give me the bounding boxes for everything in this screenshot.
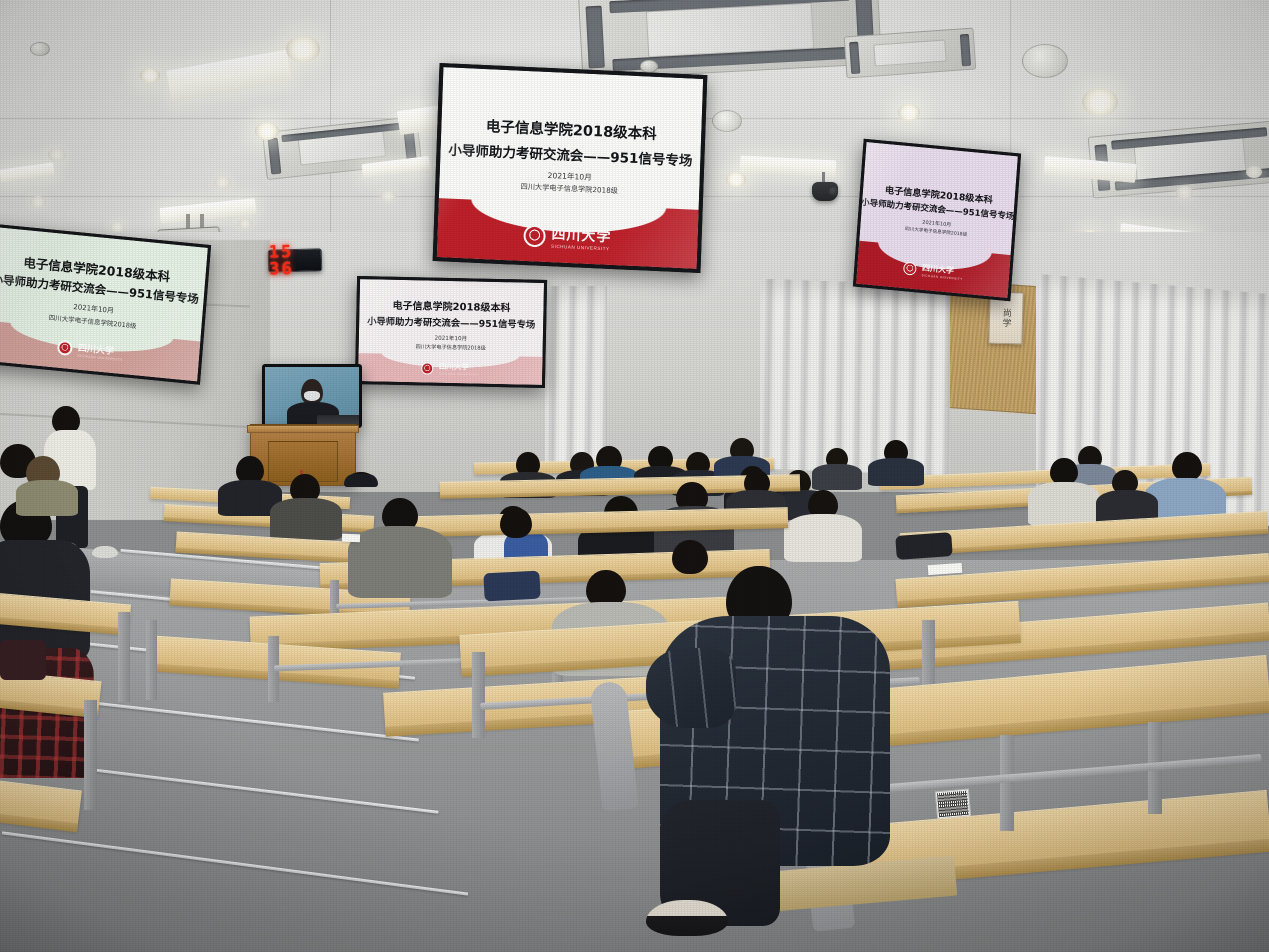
backpack (483, 571, 540, 602)
downlight-icon (726, 172, 746, 187)
student-body (270, 498, 342, 540)
clock-time: 15 36 (269, 243, 322, 278)
foreground-student-arm (646, 648, 736, 728)
right-lcd-display[interactable]: 电子信息学院2018级本科 小导师助力考研交流会——951信号专场 2021年1… (853, 139, 1021, 301)
ac-vent-icon (844, 28, 977, 79)
downlight-icon (30, 196, 46, 208)
student-body (784, 514, 862, 562)
shoe-icon (92, 546, 118, 558)
smoke-detector-icon (640, 60, 658, 73)
downlight-icon (255, 122, 279, 140)
main-lcd-display[interactable]: 电子信息学院2018级本科 小导师助力考研交流会——951信号专场 2021年1… (433, 63, 708, 273)
center-projection-screen[interactable]: 电子信息学院2018级本科 小导师助力考研交流会——951信号专场 2021年1… (355, 276, 547, 388)
downlight-icon (214, 176, 231, 189)
slide-left: 电子信息学院2018级本科 小导师助力考研交流会——951信号专场 2021年1… (0, 227, 208, 382)
seat-qr-code (935, 789, 971, 820)
slide-title-line2: 小导师助力考研交流会——951信号专场 (367, 313, 535, 331)
downlight-icon (48, 148, 66, 162)
student-head (1172, 452, 1202, 481)
slide-subtitle-org: 四川大学电子信息学院2018级 (415, 343, 485, 351)
slide-subtitle-org: 四川大学电子信息学院2018级 (905, 226, 967, 238)
student-body (812, 464, 862, 490)
lecture-hall-photo: 尚学 电子信息学院2018级本科 小导师助力考研交流会——951信号专场 202… (0, 0, 1269, 952)
panel-light-icon (166, 50, 292, 103)
student-head (672, 540, 708, 574)
podium-monitor[interactable] (262, 364, 362, 428)
logo-cn: 四川大学 (551, 224, 612, 247)
ceiling-speaker-icon (712, 110, 742, 132)
digital-clock: 15 36 (268, 248, 323, 272)
slide-title-line1: 电子信息学院2018级本科 (486, 115, 657, 144)
smoke-detector-icon (30, 42, 50, 56)
slide-main: 电子信息学院2018级本科 小导师助力考研交流会——951信号专场 2021年1… (437, 67, 703, 269)
student-body (348, 526, 452, 598)
student-head (1050, 458, 1078, 485)
logo-en: SICHUAN UNIVERSITY (439, 372, 479, 377)
curtain-back (760, 279, 950, 476)
student-body (16, 480, 78, 516)
logo-en: SICHUAN UNIVERSITY (77, 354, 123, 362)
downlight-icon (380, 190, 396, 202)
slide-center: 电子信息学院2018级本科 小导师助力考研交流会——951信号专场 2021年1… (358, 279, 544, 385)
backpack (0, 640, 46, 680)
slide-title-line1: 电子信息学院2018级本科 (392, 296, 510, 313)
downlight-icon (238, 218, 252, 229)
ceiling-speaker-icon (1022, 44, 1068, 78)
student-body (868, 458, 924, 486)
plaque-text: 尚学 (1001, 308, 1011, 328)
student-body (1028, 482, 1100, 526)
student-head (500, 508, 532, 538)
panel-light-icon (0, 162, 55, 182)
presenter-mask (304, 391, 320, 401)
slide-subtitle-date: 2021年10月 (435, 334, 468, 343)
ptz-camera-icon (812, 182, 838, 201)
curtain-center (545, 286, 607, 472)
downlight-icon (1246, 166, 1262, 178)
slide-subtitle-org: 四川大学电子信息学院2018级 (520, 182, 618, 196)
shoe-icon (646, 900, 728, 936)
backpack (895, 532, 953, 560)
downlight-icon (140, 68, 160, 83)
ac-vent-icon (578, 0, 882, 80)
slide-subtitle-date: 2021年10月 (547, 170, 592, 183)
paper-sheet (342, 534, 360, 543)
logo-en: SICHUAN UNIVERSITY (921, 273, 962, 281)
left-projection-screen[interactable]: 电子信息学院2018级本科 小导师助力考研交流会——951信号专场 2021年1… (0, 223, 211, 384)
logo-cn: 四川大学 (439, 361, 469, 373)
downlight-icon (1176, 186, 1193, 199)
slide-right: 电子信息学院2018级本科 小导师助力考研交流会——951信号专场 2021年1… (856, 142, 1018, 298)
downlight-icon (286, 36, 320, 62)
downlight-icon (1082, 88, 1118, 116)
cap-on-desk (344, 474, 378, 487)
downlight-icon (898, 104, 920, 121)
